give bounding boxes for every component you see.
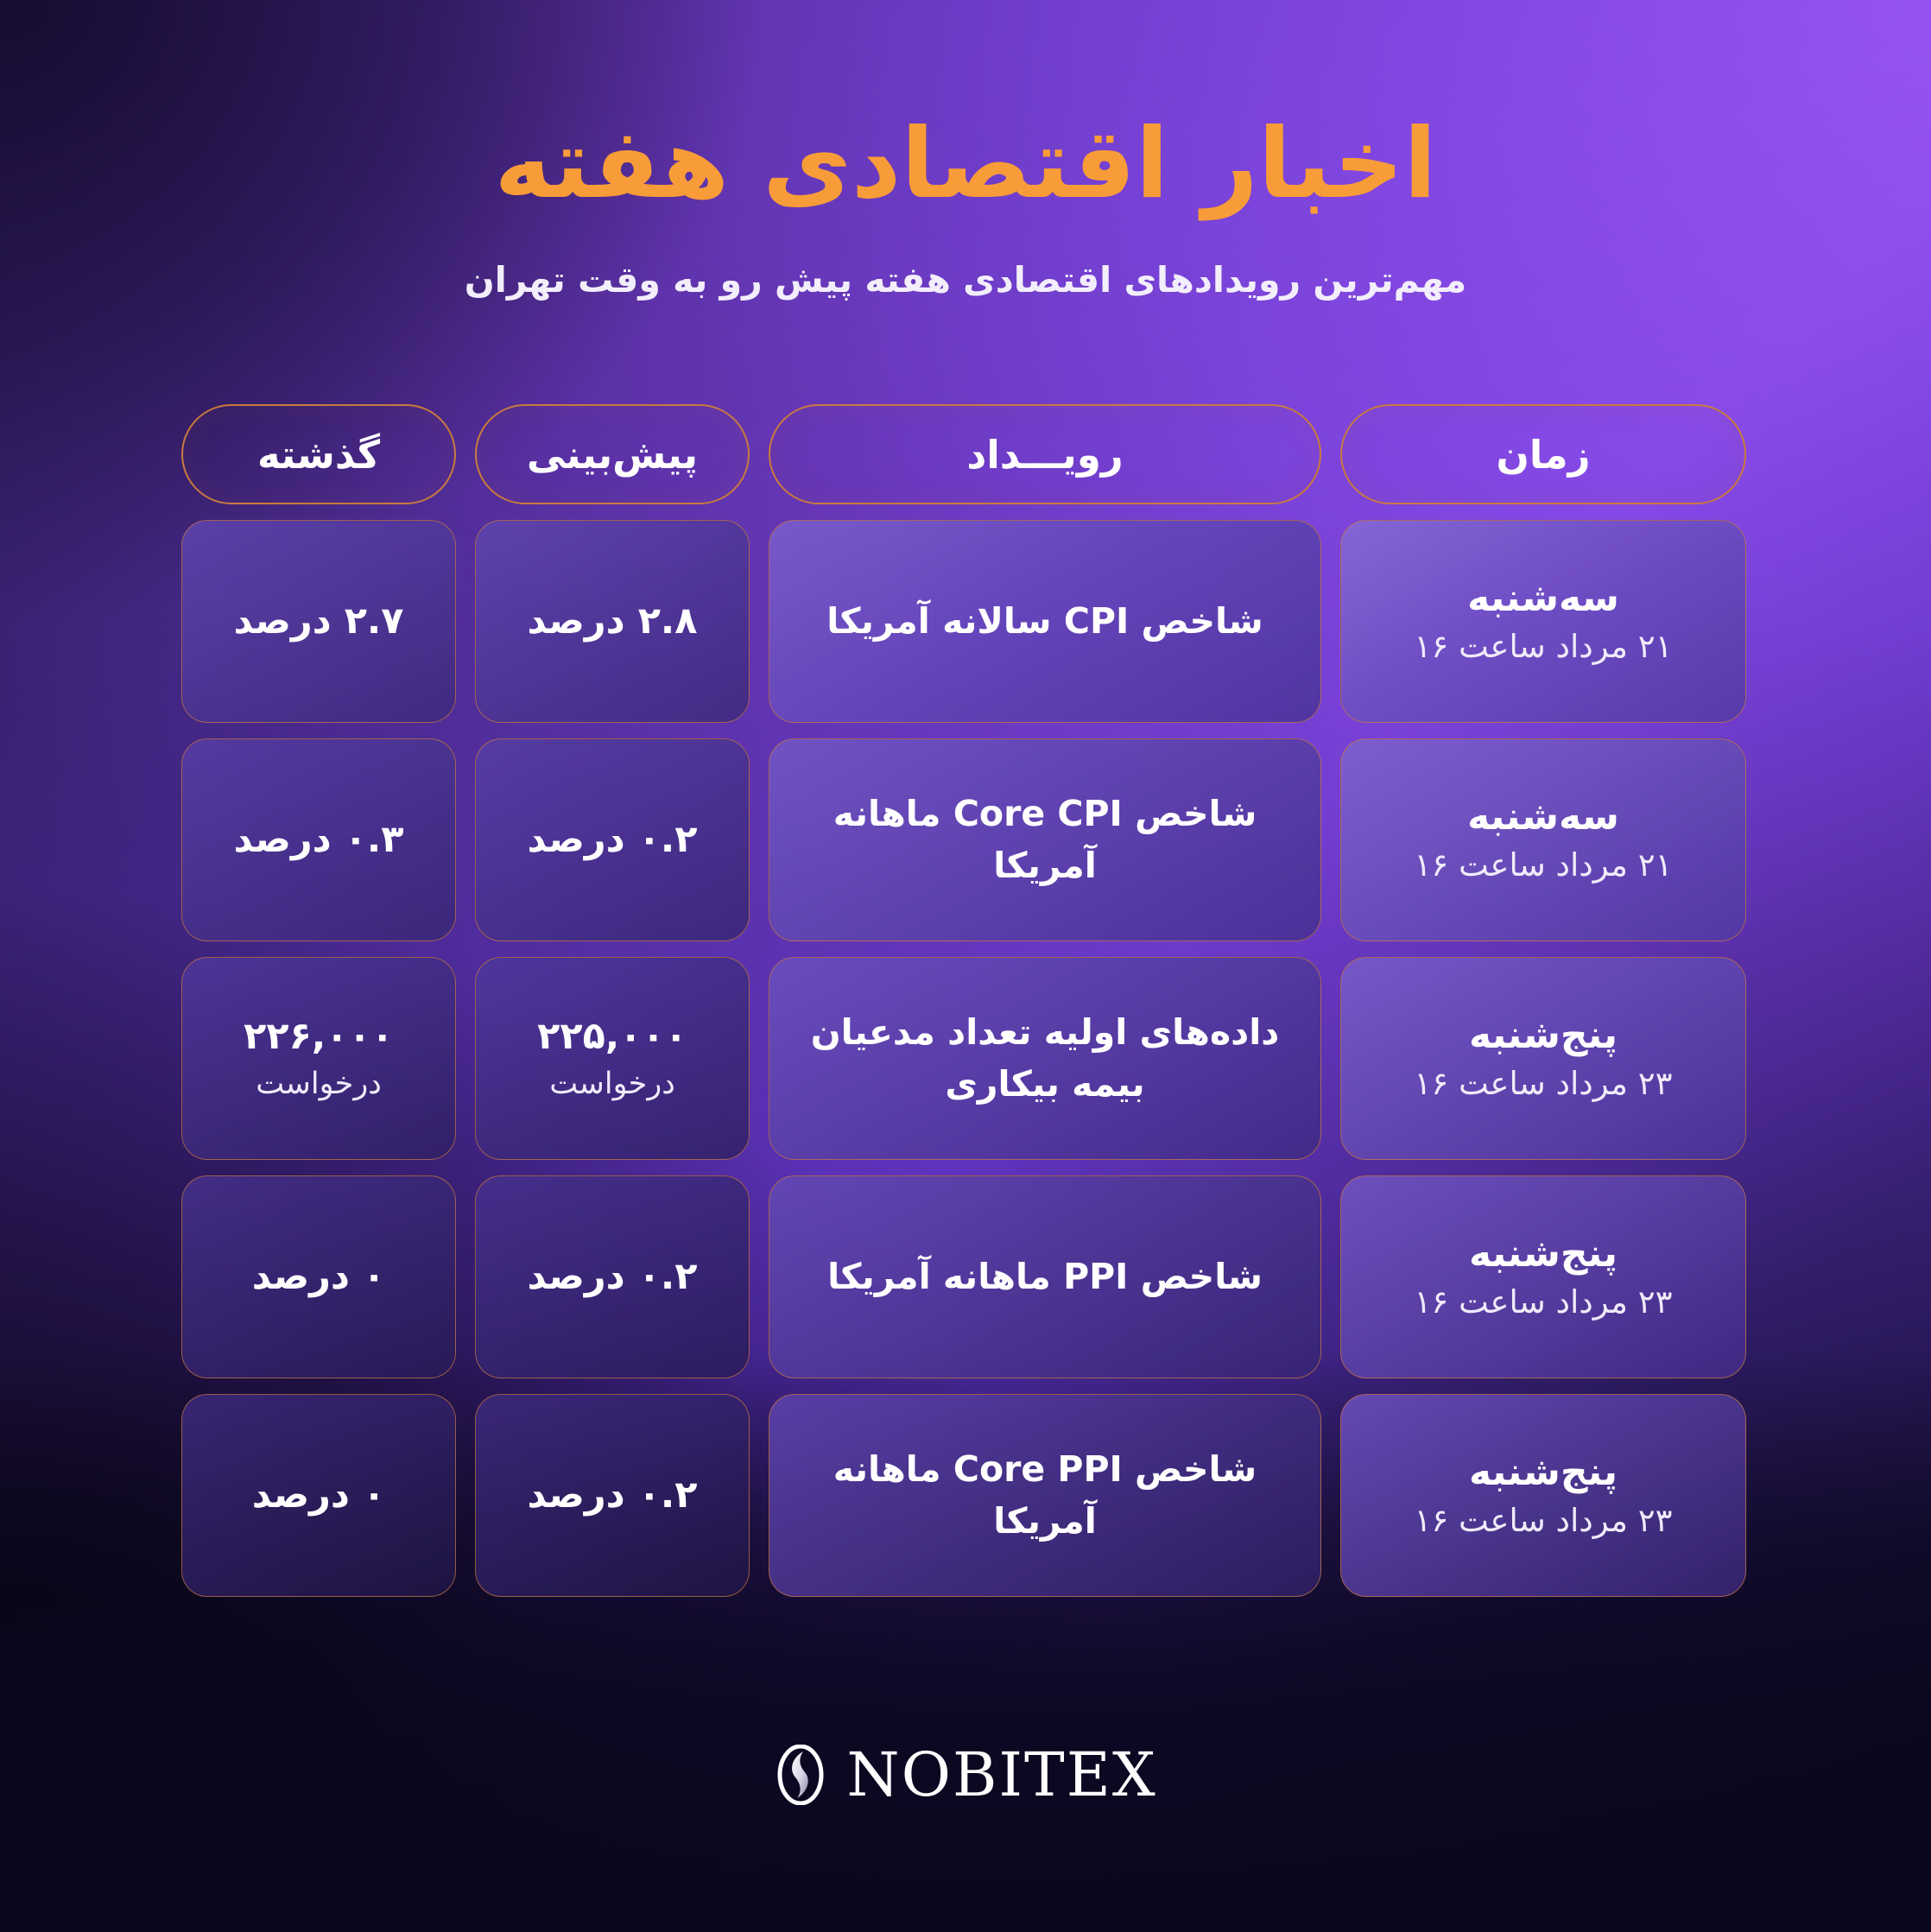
row-event-cell: شاخص Core PPI ماهانه آمریکا xyxy=(769,1394,1321,1597)
row-forecast-value: ۰.۲ درصد xyxy=(528,1255,698,1300)
nobitex-swirl-icon xyxy=(774,1745,827,1805)
row-time-date: ۲۱ مرداد ساعت ۱۶ xyxy=(1415,628,1673,666)
events-table: زمان رویـــداد پیش‌بینی گذشته سه‌شنبه ۲۱… xyxy=(185,404,1746,1597)
row-time-cell: پنج‌شنبه ۲۳ مرداد ساعت ۱۶ xyxy=(1340,957,1746,1160)
row-time-cell: سه‌شنبه ۲۱ مرداد ساعت ۱۶ xyxy=(1340,520,1746,723)
row-time-date: ۲۳ مرداد ساعت ۱۶ xyxy=(1415,1065,1673,1103)
row-past-cell: ۲.۷ درصد xyxy=(181,520,456,723)
row-time-cell: پنج‌شنبه ۲۳ مرداد ساعت ۱۶ xyxy=(1340,1175,1746,1378)
row-event-text: شاخص PPI ماهانه آمریکا xyxy=(827,1251,1263,1302)
row-time-cell: پنج‌شنبه ۲۳ مرداد ساعت ۱۶ xyxy=(1340,1394,1746,1597)
row-event-text: داده‌های اولیه تعداد مدعیان بیمه بیکاری xyxy=(787,1007,1303,1110)
table-row: سه‌شنبه ۲۱ مرداد ساعت ۱۶ شاخص CPI سالانه… xyxy=(185,520,1746,723)
row-forecast-value: ۲.۸ درصد xyxy=(528,599,698,644)
page-subtitle: مهم‌ترین رویدادهای اقتصادی هفته پیش رو ب… xyxy=(0,259,1931,301)
table-header-row: زمان رویـــداد پیش‌بینی گذشته xyxy=(185,404,1746,504)
infographic-page: اخبار اقتصادی هفته مهم‌ترین رویدادهای اق… xyxy=(0,0,1931,1932)
row-forecast-cell: ۰.۲ درصد xyxy=(475,1175,750,1378)
row-forecast-value: ۰.۲ درصد xyxy=(528,818,698,863)
column-header-forecast: پیش‌بینی xyxy=(475,404,750,504)
column-header-past-label: گذشته xyxy=(257,432,380,478)
row-time-date: ۲۱ مرداد ساعت ۱۶ xyxy=(1415,846,1673,884)
column-header-time-label: زمان xyxy=(1496,432,1590,478)
row-past-unit: درخواست xyxy=(256,1066,382,1102)
column-header-time: زمان xyxy=(1340,404,1746,504)
row-forecast-cell: ۰.۲ درصد xyxy=(475,1394,750,1597)
row-time-day: سه‌شنبه xyxy=(1467,577,1619,621)
row-time-date: ۲۳ مرداد ساعت ۱۶ xyxy=(1415,1283,1673,1321)
brand-wordmark: NOBITEX xyxy=(846,1745,1156,1805)
row-forecast-cell: ۲.۸ درصد xyxy=(475,520,750,723)
row-forecast-value: ۲۲۵,۰۰۰ xyxy=(537,1015,687,1060)
row-event-text: شاخص Core PPI ماهانه آمریکا xyxy=(787,1444,1303,1547)
row-time-cell: سه‌شنبه ۲۱ مرداد ساعت ۱۶ xyxy=(1340,738,1746,941)
row-time-day: پنج‌شنبه xyxy=(1469,1014,1618,1058)
column-header-past: گذشته xyxy=(181,404,456,504)
row-forecast-unit: درخواست xyxy=(549,1066,675,1102)
column-header-event: رویـــداد xyxy=(769,404,1321,504)
row-event-text: شاخص CPI سالانه آمریکا xyxy=(826,596,1263,647)
footer-brand: NOBITEX xyxy=(0,1745,1931,1805)
row-forecast-value: ۰.۲ درصد xyxy=(528,1473,698,1518)
row-past-cell: ۰ درصد xyxy=(181,1394,456,1597)
row-event-cell: شاخص CPI سالانه آمریکا xyxy=(769,520,1321,723)
row-past-value: ۲۲۶,۰۰۰ xyxy=(244,1015,394,1060)
column-header-forecast-label: پیش‌بینی xyxy=(527,432,698,478)
row-past-value: ۰ درصد xyxy=(252,1473,385,1518)
row-past-value: ۲.۷ درصد xyxy=(234,599,404,644)
row-event-text: شاخص Core CPI ماهانه آمریکا xyxy=(787,789,1303,891)
row-time-day: پنج‌شنبه xyxy=(1469,1451,1618,1495)
table-row: پنج‌شنبه ۲۳ مرداد ساعت ۱۶ شاخص Core PPI … xyxy=(185,1394,1746,1597)
row-past-value: ۰.۳ درصد xyxy=(234,818,404,863)
row-time-day: پنج‌شنبه xyxy=(1469,1232,1618,1276)
row-past-value: ۰ درصد xyxy=(252,1255,385,1300)
row-forecast-cell: ۰.۲ درصد xyxy=(475,738,750,941)
row-event-cell: شاخص Core CPI ماهانه آمریکا xyxy=(769,738,1321,941)
column-header-event-label: رویـــداد xyxy=(966,432,1123,478)
row-event-cell: داده‌های اولیه تعداد مدعیان بیمه بیکاری xyxy=(769,957,1321,1160)
table-row: سه‌شنبه ۲۱ مرداد ساعت ۱۶ شاخص Core CPI م… xyxy=(185,738,1746,941)
row-event-cell: شاخص PPI ماهانه آمریکا xyxy=(769,1175,1321,1378)
page-title: اخبار اقتصادی هفته xyxy=(0,104,1931,225)
table-row: پنج‌شنبه ۲۳ مرداد ساعت ۱۶ داده‌های اولیه… xyxy=(185,957,1746,1160)
row-past-cell: ۰.۳ درصد xyxy=(181,738,456,941)
row-forecast-cell: ۲۲۵,۰۰۰ درخواست xyxy=(475,957,750,1160)
row-past-cell: ۲۲۶,۰۰۰ درخواست xyxy=(181,957,456,1160)
table-row: پنج‌شنبه ۲۳ مرداد ساعت ۱۶ شاخص PPI ماهان… xyxy=(185,1175,1746,1378)
row-past-cell: ۰ درصد xyxy=(181,1175,456,1378)
row-time-day: سه‌شنبه xyxy=(1467,795,1619,839)
row-time-date: ۲۳ مرداد ساعت ۱۶ xyxy=(1415,1502,1673,1540)
